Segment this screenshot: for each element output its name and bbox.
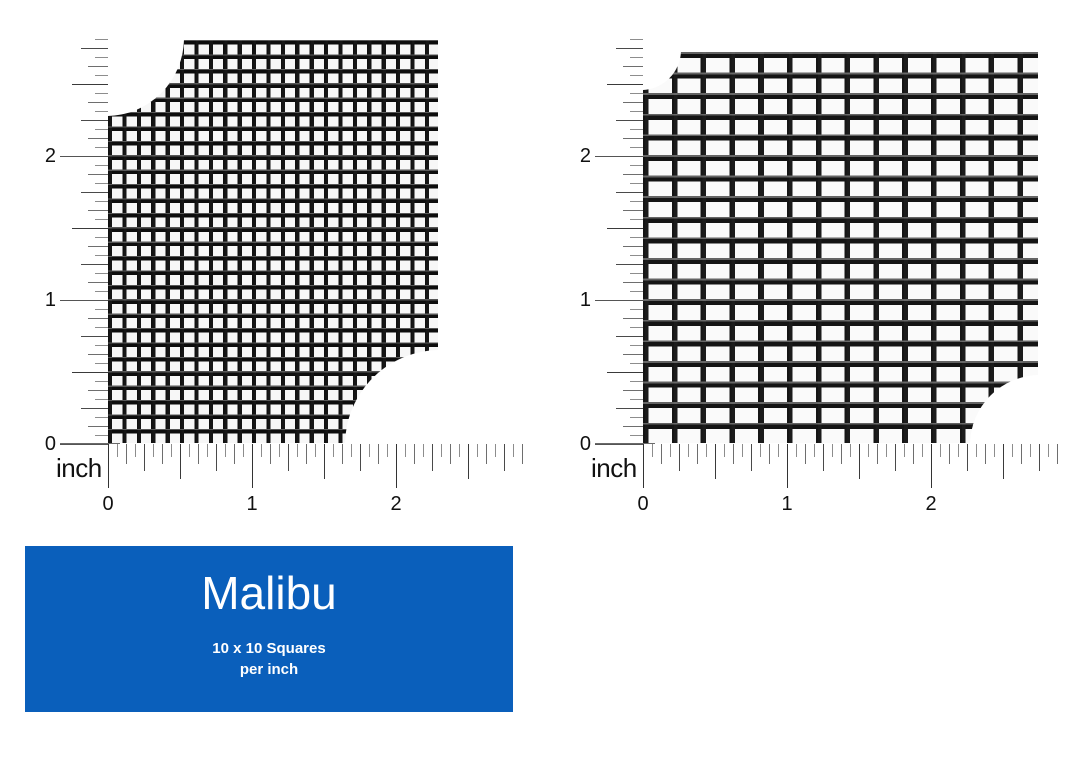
vertical-ruler-tick: [630, 255, 643, 256]
vertical-ruler-tick: [630, 327, 643, 328]
horizontal-ruler-tick: [787, 444, 788, 488]
horizontal-ruler-tick: [1039, 444, 1040, 471]
horizontal-ruler-label: 1: [246, 494, 257, 514]
horizontal-ruler-tick: [841, 444, 842, 464]
horizontal-ruler-tick: [297, 444, 298, 457]
vertical-ruler-tick: [60, 156, 108, 157]
vertical-ruler-tick: [95, 309, 108, 310]
vertical-ruler-tick: [81, 408, 108, 409]
vertical-ruler-tick: [95, 273, 108, 274]
horizontal-ruler-tick: [414, 444, 415, 464]
horizontal-ruler-tick: [153, 444, 154, 457]
vertical-ruler-tick: [81, 264, 108, 265]
horizontal-ruler-tick: [252, 444, 253, 488]
vertical-ruler-tick: [95, 381, 108, 382]
vertical-ruler-tick: [95, 291, 108, 292]
vertical-ruler-tick: [88, 66, 108, 67]
vertical-ruler-tick: [630, 363, 643, 364]
horizontal-ruler-tick: [243, 444, 244, 457]
vertical-ruler-tick: [595, 444, 643, 445]
horizontal-ruler-tick: [940, 444, 941, 457]
horizontal-ruler-tick: [288, 444, 289, 471]
vertical-ruler-tick: [88, 390, 108, 391]
vertical-ruler-label: 1: [45, 290, 56, 310]
horizontal-ruler-tick: [931, 444, 932, 488]
horizontal-ruler-tick: [688, 444, 689, 457]
horizontal-ruler-tick: [877, 444, 878, 464]
horizontal-ruler-tick: [468, 444, 469, 479]
vertical-ruler-tick: [95, 183, 108, 184]
vertical-ruler-tick: [630, 39, 643, 40]
vertical-ruler-tick: [95, 327, 108, 328]
horizontal-ruler-tick: [126, 444, 127, 464]
horizontal-ruler-tick: [1012, 444, 1013, 457]
vertical-ruler-label: 0: [580, 434, 591, 454]
vertical-ruler-tick: [88, 138, 108, 139]
horizontal-ruler-tick: [904, 444, 905, 457]
vertical-ruler-tick: [88, 210, 108, 211]
horizontal-ruler-hampton: 012: [643, 444, 1063, 488]
vertical-ruler-tick: [81, 48, 108, 49]
product-name-malibu: Malibu: [25, 568, 513, 620]
horizontal-ruler-tick: [922, 444, 923, 457]
vertical-ruler-tick: [623, 318, 643, 319]
horizontal-ruler-tick: [171, 444, 172, 457]
horizontal-ruler-tick: [495, 444, 496, 457]
vertical-ruler-tick: [623, 390, 643, 391]
horizontal-ruler-tick: [832, 444, 833, 457]
vertical-ruler-tick: [95, 255, 108, 256]
horizontal-ruler-tick: [198, 444, 199, 464]
horizontal-ruler-tick: [886, 444, 887, 457]
vertical-ruler-tick: [630, 417, 643, 418]
horizontal-ruler-tick: [805, 444, 806, 464]
product-spec-malibu: 10 x 10 Squares per inch: [25, 638, 513, 682]
horizontal-ruler-tick: [432, 444, 433, 471]
vertical-ruler-tick: [88, 246, 108, 247]
vertical-ruler-tick: [95, 57, 108, 58]
horizontal-ruler-tick: [459, 444, 460, 457]
mesh-swatch-hampton: [643, 52, 1038, 443]
product-spec-line1-malibu: 10 x 10 Squares: [212, 640, 325, 657]
vertical-ruler-tick: [595, 300, 643, 301]
horizontal-ruler-tick: [724, 444, 725, 457]
vertical-ruler-tick: [630, 129, 643, 130]
horizontal-ruler-tick: [306, 444, 307, 464]
horizontal-ruler-tick: [189, 444, 190, 457]
vertical-ruler-tick: [630, 183, 643, 184]
horizontal-ruler-tick: [778, 444, 779, 457]
vertical-ruler-tick: [88, 282, 108, 283]
horizontal-ruler-tick: [751, 444, 752, 471]
vertical-ruler-tick: [630, 435, 643, 436]
horizontal-ruler-tick: [1003, 444, 1004, 479]
horizontal-ruler-tick: [652, 444, 653, 457]
vertical-ruler-tick: [630, 219, 643, 220]
vertical-ruler-tick: [95, 219, 108, 220]
horizontal-ruler-tick: [378, 444, 379, 464]
horizontal-ruler-tick: [423, 444, 424, 457]
vertical-ruler-label: 1: [580, 290, 591, 310]
horizontal-ruler-tick: [949, 444, 950, 464]
horizontal-ruler-tick: [369, 444, 370, 457]
horizontal-ruler-tick: [769, 444, 770, 464]
horizontal-ruler-tick: [967, 444, 968, 471]
vertical-ruler-tick: [616, 336, 643, 337]
vertical-ruler-tick: [623, 282, 643, 283]
ruler-unit-label-hampton: inch: [591, 455, 637, 481]
vertical-ruler-tick: [607, 84, 643, 85]
vertical-ruler-tick: [616, 408, 643, 409]
vertical-ruler-tick: [630, 57, 643, 58]
vertical-ruler-tick: [95, 75, 108, 76]
vertical-ruler-tick: [630, 291, 643, 292]
horizontal-ruler-tick: [360, 444, 361, 471]
horizontal-ruler-tick: [679, 444, 680, 471]
horizontal-ruler-malibu: 012: [108, 444, 528, 488]
horizontal-ruler-label: 1: [781, 494, 792, 514]
horizontal-ruler-tick: [976, 444, 977, 457]
vertical-ruler-tick: [630, 309, 643, 310]
vertical-ruler-label: 2: [45, 146, 56, 166]
vertical-ruler-label: 0: [45, 434, 56, 454]
horizontal-ruler-tick: [108, 444, 109, 488]
horizontal-ruler-tick: [207, 444, 208, 457]
vertical-ruler-tick: [88, 318, 108, 319]
vertical-ruler-tick: [88, 426, 108, 427]
horizontal-ruler-tick: [180, 444, 181, 479]
horizontal-ruler-tick: [270, 444, 271, 464]
vertical-ruler-tick: [623, 210, 643, 211]
vertical-ruler-tick: [95, 93, 108, 94]
vertical-ruler-tick: [595, 156, 643, 157]
horizontal-ruler-tick: [895, 444, 896, 471]
horizontal-ruler-tick: [742, 444, 743, 457]
vertical-ruler-tick: [630, 93, 643, 94]
vertical-ruler-tick: [630, 381, 643, 382]
mesh-swatch-malibu: [108, 40, 438, 443]
vertical-ruler-tick: [81, 192, 108, 193]
vertical-ruler-tick: [95, 165, 108, 166]
horizontal-ruler-tick: [697, 444, 698, 464]
vertical-ruler-tick: [72, 372, 108, 373]
horizontal-ruler-tick: [958, 444, 959, 457]
horizontal-ruler-tick: [162, 444, 163, 464]
vertical-ruler-tick: [81, 336, 108, 337]
horizontal-ruler-tick: [342, 444, 343, 464]
vertical-ruler-tick: [95, 147, 108, 148]
horizontal-ruler-tick: [450, 444, 451, 464]
screen-root: 012 012 inch Malibu 10 x 10 Squares per …: [0, 0, 1080, 759]
horizontal-ruler-tick: [796, 444, 797, 457]
product-card-malibu[interactable]: 012 012 inch Malibu 10 x 10 Squares per …: [0, 0, 535, 759]
horizontal-ruler-tick: [486, 444, 487, 464]
vertical-ruler-tick: [88, 102, 108, 103]
horizontal-ruler-tick: [733, 444, 734, 464]
horizontal-ruler-tick: [715, 444, 716, 479]
swatch-stage-hampton: 012 012 inch: [535, 0, 1070, 530]
vertical-ruler-tick: [616, 120, 643, 121]
horizontal-ruler-tick: [1030, 444, 1031, 457]
vertical-ruler-tick: [81, 120, 108, 121]
vertical-ruler-tick: [607, 228, 643, 229]
vertical-ruler-tick: [95, 201, 108, 202]
vertical-ruler-malibu: 012: [60, 36, 108, 444]
horizontal-ruler-tick: [405, 444, 406, 457]
horizontal-ruler-tick: [522, 444, 523, 464]
vertical-ruler-tick: [88, 354, 108, 355]
vertical-ruler-tick: [630, 75, 643, 76]
horizontal-ruler-tick: [706, 444, 707, 457]
horizontal-ruler-tick: [315, 444, 316, 457]
horizontal-ruler-tick: [1048, 444, 1049, 457]
vertical-ruler-tick: [95, 435, 108, 436]
horizontal-ruler-tick: [661, 444, 662, 464]
vertical-ruler-tick: [623, 138, 643, 139]
horizontal-ruler-tick: [387, 444, 388, 457]
horizontal-ruler-tick: [261, 444, 262, 457]
horizontal-ruler-tick: [234, 444, 235, 464]
vertical-ruler-tick: [95, 39, 108, 40]
vertical-ruler-tick: [630, 399, 643, 400]
vertical-ruler-hampton: 012: [595, 36, 643, 444]
vertical-ruler-tick: [630, 111, 643, 112]
vertical-ruler-tick: [60, 444, 108, 445]
horizontal-ruler-tick: [279, 444, 280, 457]
horizontal-ruler-tick: [913, 444, 914, 464]
horizontal-ruler-tick: [333, 444, 334, 457]
vertical-ruler-tick: [88, 174, 108, 175]
vertical-ruler-tick: [95, 111, 108, 112]
vertical-ruler-tick: [623, 102, 643, 103]
horizontal-ruler-tick: [441, 444, 442, 457]
vertical-ruler-tick: [95, 417, 108, 418]
horizontal-ruler-tick: [760, 444, 761, 457]
vertical-ruler-tick: [623, 246, 643, 247]
horizontal-ruler-tick: [513, 444, 514, 457]
horizontal-ruler-tick: [670, 444, 671, 457]
vertical-ruler-tick: [72, 84, 108, 85]
horizontal-ruler-tick: [504, 444, 505, 471]
horizontal-ruler-tick: [994, 444, 995, 457]
horizontal-ruler-tick: [225, 444, 226, 457]
vertical-ruler-tick: [630, 201, 643, 202]
vertical-ruler-tick: [630, 147, 643, 148]
horizontal-ruler-tick: [823, 444, 824, 471]
mesh-texture-hampton: [643, 52, 1038, 443]
mesh-texture-malibu: [108, 40, 438, 443]
horizontal-ruler-tick: [814, 444, 815, 457]
swatch-stage-malibu: 012 012 inch: [0, 0, 535, 530]
caption-panel-malibu[interactable]: Malibu 10 x 10 Squares per inch: [25, 546, 513, 712]
horizontal-ruler-tick: [985, 444, 986, 464]
vertical-ruler-tick: [607, 372, 643, 373]
horizontal-ruler-tick: [396, 444, 397, 488]
vertical-ruler-tick: [623, 426, 643, 427]
horizontal-ruler-tick: [144, 444, 145, 471]
vertical-ruler-tick: [623, 354, 643, 355]
horizontal-ruler-tick: [850, 444, 851, 457]
horizontal-ruler-tick: [135, 444, 136, 457]
horizontal-ruler-label: 2: [390, 494, 401, 514]
vertical-ruler-label: 2: [580, 146, 591, 166]
horizontal-ruler-tick: [859, 444, 860, 479]
vertical-ruler-tick: [95, 345, 108, 346]
horizontal-ruler-tick: [1021, 444, 1022, 464]
vertical-ruler-tick: [630, 237, 643, 238]
vertical-ruler-tick: [616, 192, 643, 193]
ruler-unit-label-malibu: inch: [56, 455, 102, 481]
horizontal-ruler-tick: [324, 444, 325, 479]
horizontal-ruler-tick: [477, 444, 478, 457]
horizontal-ruler-tick: [643, 444, 644, 488]
vertical-ruler-tick: [60, 300, 108, 301]
vertical-ruler-tick: [95, 129, 108, 130]
horizontal-ruler-tick: [216, 444, 217, 471]
vertical-ruler-tick: [72, 228, 108, 229]
vertical-ruler-tick: [630, 273, 643, 274]
vertical-ruler-tick: [616, 264, 643, 265]
vertical-ruler-tick: [616, 48, 643, 49]
horizontal-ruler-label: 2: [925, 494, 936, 514]
product-spec-line2-malibu: per inch: [25, 659, 513, 681]
horizontal-ruler-label: 0: [637, 494, 648, 514]
product-card-hampton[interactable]: 012 012 inch Hampton 5 x 7 Squares per i…: [535, 0, 1070, 759]
horizontal-ruler-label: 0: [102, 494, 113, 514]
vertical-ruler-tick: [630, 165, 643, 166]
vertical-ruler-tick: [623, 174, 643, 175]
horizontal-ruler-tick: [868, 444, 869, 457]
horizontal-ruler-tick: [1057, 444, 1058, 464]
vertical-ruler-tick: [95, 237, 108, 238]
vertical-ruler-tick: [630, 345, 643, 346]
vertical-ruler-tick: [95, 399, 108, 400]
vertical-ruler-tick: [623, 66, 643, 67]
horizontal-ruler-tick: [351, 444, 352, 457]
horizontal-ruler-tick: [117, 444, 118, 457]
vertical-ruler-tick: [95, 363, 108, 364]
